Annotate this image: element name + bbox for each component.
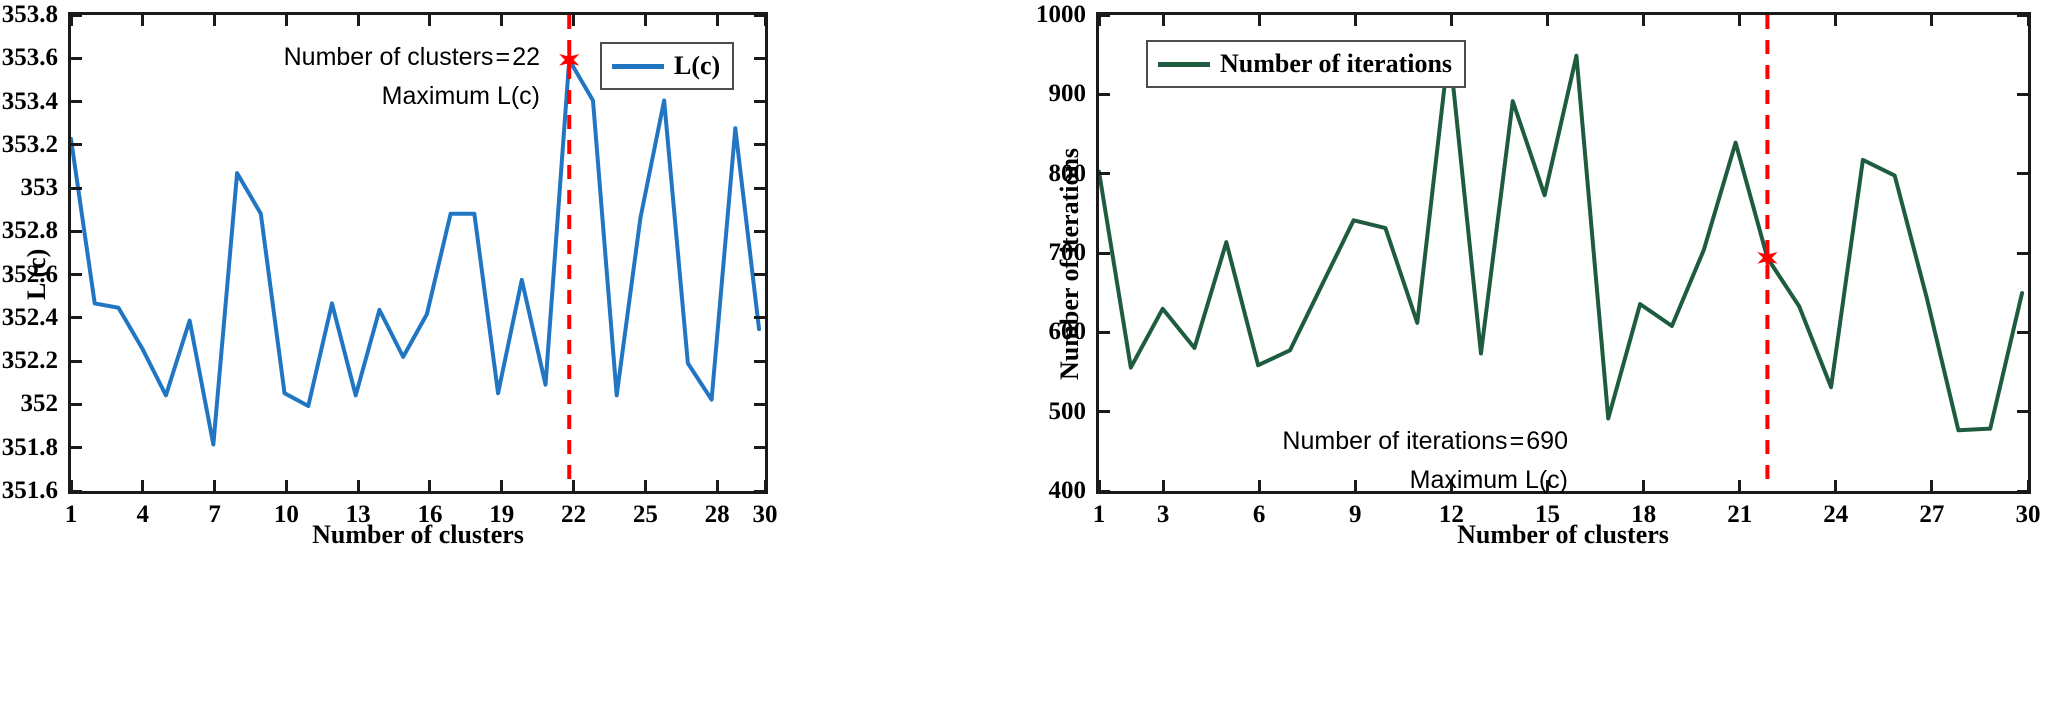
y-tick-mark-right: [754, 403, 765, 406]
y-tick-label: 1000: [1036, 1, 1086, 29]
y-tick-mark: [71, 57, 82, 60]
x-axis-title-right: Number of clusters: [1457, 520, 1669, 550]
x-tick-mark-top: [428, 15, 431, 26]
y-tick-label: 400: [1049, 477, 1087, 505]
x-tick-label: 9: [1349, 501, 1362, 529]
x-tick-mark-top: [716, 15, 719, 26]
y-tick-mark-right: [2017, 14, 2028, 17]
x-tick-mark-top: [500, 15, 503, 26]
x-tick-mark-top: [1354, 15, 1357, 26]
y-tick-mark: [1099, 93, 1110, 96]
x-axis-title-left: Number of clusters: [312, 520, 524, 550]
x-tick-mark-top: [70, 15, 73, 26]
y-tick-label: 353: [21, 174, 59, 202]
panel-left: 1471013161922252830351.6351.8352352.2352…: [0, 0, 1033, 726]
x-tick-mark: [572, 480, 575, 491]
y-tick-label: 353.8: [2, 1, 58, 29]
x-tick-mark-top: [644, 15, 647, 26]
figure-container: 1471013161922252830351.6351.8352352.2352…: [0, 0, 2067, 726]
x-tick-mark: [428, 480, 431, 491]
y-tick-mark: [71, 100, 82, 103]
x-tick-label: 27: [1919, 501, 1944, 529]
panel-right: 1369121518212427304005006007008009001000…: [1033, 0, 2067, 726]
y-tick-label: 500: [1049, 398, 1087, 426]
x-tick-mark-top: [141, 15, 144, 26]
x-tick-mark: [1930, 480, 1933, 491]
x-tick-mark-top: [1450, 15, 1453, 26]
x-tick-label: 30: [753, 501, 778, 529]
y-tick-mark: [71, 403, 82, 406]
annotation-right-line2: Maximum L(c): [1108, 461, 1568, 500]
y-tick-label: 352.8: [2, 217, 58, 245]
x-tick-mark-top: [1258, 15, 1261, 26]
y-tick-label: 352: [21, 390, 59, 418]
y-tick-mark-right: [2017, 172, 2028, 175]
y-tick-mark: [71, 143, 82, 146]
x-tick-label: 1: [1093, 501, 1106, 529]
x-tick-label: 25: [633, 501, 658, 529]
x-tick-mark-top: [764, 15, 767, 26]
y-tick-label: 900: [1049, 80, 1087, 108]
x-tick-label: 4: [137, 501, 150, 529]
y-tick-mark: [71, 446, 82, 449]
x-tick-label: 24: [1823, 501, 1848, 529]
y-tick-mark: [1099, 410, 1110, 413]
y-tick-label: 353.4: [2, 88, 58, 116]
legend-right[interactable]: Number of iterations: [1146, 40, 1466, 88]
y-tick-mark-right: [754, 316, 765, 319]
x-tick-mark-top: [1162, 15, 1165, 26]
x-tick-mark: [357, 480, 360, 491]
y-tick-mark: [71, 187, 82, 190]
x-tick-mark-top: [1738, 15, 1741, 26]
x-tick-label: 6: [1253, 501, 1266, 529]
legend-label-lc: L(c): [674, 51, 720, 81]
data-series-line: [1099, 46, 2022, 430]
y-tick-mark-right: [754, 57, 765, 60]
y-axis-title-left: L (c): [22, 249, 52, 300]
y-tick-mark: [71, 230, 82, 233]
y-tick-label: 352.2: [2, 347, 58, 375]
legend-left[interactable]: L(c): [600, 42, 734, 90]
y-tick-mark-right: [754, 273, 765, 276]
y-tick-mark: [71, 490, 82, 493]
y-tick-mark-right: [754, 490, 765, 493]
x-tick-label: 22: [561, 501, 586, 529]
x-tick-mark: [1738, 480, 1741, 491]
x-tick-mark: [644, 480, 647, 491]
y-tick-mark-right: [754, 100, 765, 103]
y-tick-label: 353.2: [2, 131, 58, 159]
y-tick-label: 351.8: [2, 434, 58, 462]
y-tick-mark: [1099, 331, 1110, 334]
y-tick-mark-right: [2017, 490, 2028, 493]
y-tick-label: 351.6: [2, 477, 58, 505]
x-tick-label: 10: [274, 501, 299, 529]
y-tick-mark-right: [2017, 410, 2028, 413]
x-tick-label: 30: [2016, 501, 2041, 529]
y-tick-mark-right: [2017, 252, 2028, 255]
y-tick-mark: [71, 316, 82, 319]
y-tick-mark-right: [754, 446, 765, 449]
x-tick-mark: [500, 480, 503, 491]
x-tick-mark: [1642, 480, 1645, 491]
x-tick-mark-top: [1642, 15, 1645, 26]
x-tick-mark-top: [1834, 15, 1837, 26]
x-tick-label: 1: [65, 501, 78, 529]
data-series-line: [71, 60, 759, 445]
x-tick-mark: [1834, 480, 1837, 491]
x-tick-mark-top: [1930, 15, 1933, 26]
y-tick-mark-right: [754, 187, 765, 190]
legend-color-swatch-lc: [612, 64, 664, 69]
y-axis-title-right: Number of iterations: [1055, 148, 1085, 380]
y-tick-mark-right: [754, 14, 765, 17]
annotation-right-line1: Number of iterations = 690: [1108, 422, 1568, 461]
x-tick-mark: [285, 480, 288, 491]
legend-label-iterations: Number of iterations: [1220, 49, 1452, 79]
y-tick-mark: [71, 360, 82, 363]
y-tick-mark-right: [754, 230, 765, 233]
x-tick-label: 28: [705, 501, 730, 529]
y-tick-mark-right: [754, 360, 765, 363]
x-tick-mark-top: [213, 15, 216, 26]
x-tick-mark: [141, 480, 144, 491]
y-tick-label: 352.4: [2, 304, 58, 332]
x-tick-label: 3: [1157, 501, 1170, 529]
y-tick-mark-right: [754, 143, 765, 146]
x-tick-mark-top: [1546, 15, 1549, 26]
y-tick-mark-right: [2017, 331, 2028, 334]
annotation-left-line1: Number of clusters = 22: [240, 38, 540, 77]
x-tick-label: 21: [1727, 501, 1752, 529]
x-tick-mark-top: [2027, 15, 2030, 26]
y-tick-mark: [71, 14, 82, 17]
x-tick-mark-top: [357, 15, 360, 26]
x-tick-mark-top: [572, 15, 575, 26]
y-tick-mark: [1099, 172, 1110, 175]
annotation-left-line2: Maximum L(c): [240, 77, 540, 116]
y-tick-mark: [71, 273, 82, 276]
y-tick-mark: [1099, 14, 1110, 17]
x-tick-mark-top: [1098, 15, 1101, 26]
y-tick-mark-right: [2017, 93, 2028, 96]
x-tick-label: 7: [208, 501, 221, 529]
annotation-left: Number of clusters = 22 Maximum L(c): [240, 38, 540, 116]
x-tick-mark: [716, 480, 719, 491]
legend-color-swatch-iterations: [1158, 62, 1210, 67]
y-tick-mark: [1099, 252, 1110, 255]
annotation-right: Number of iterations = 690 Maximum L(c): [1108, 422, 1568, 500]
x-tick-mark-top: [285, 15, 288, 26]
x-tick-mark: [213, 480, 216, 491]
y-tick-label: 353.6: [2, 44, 58, 72]
